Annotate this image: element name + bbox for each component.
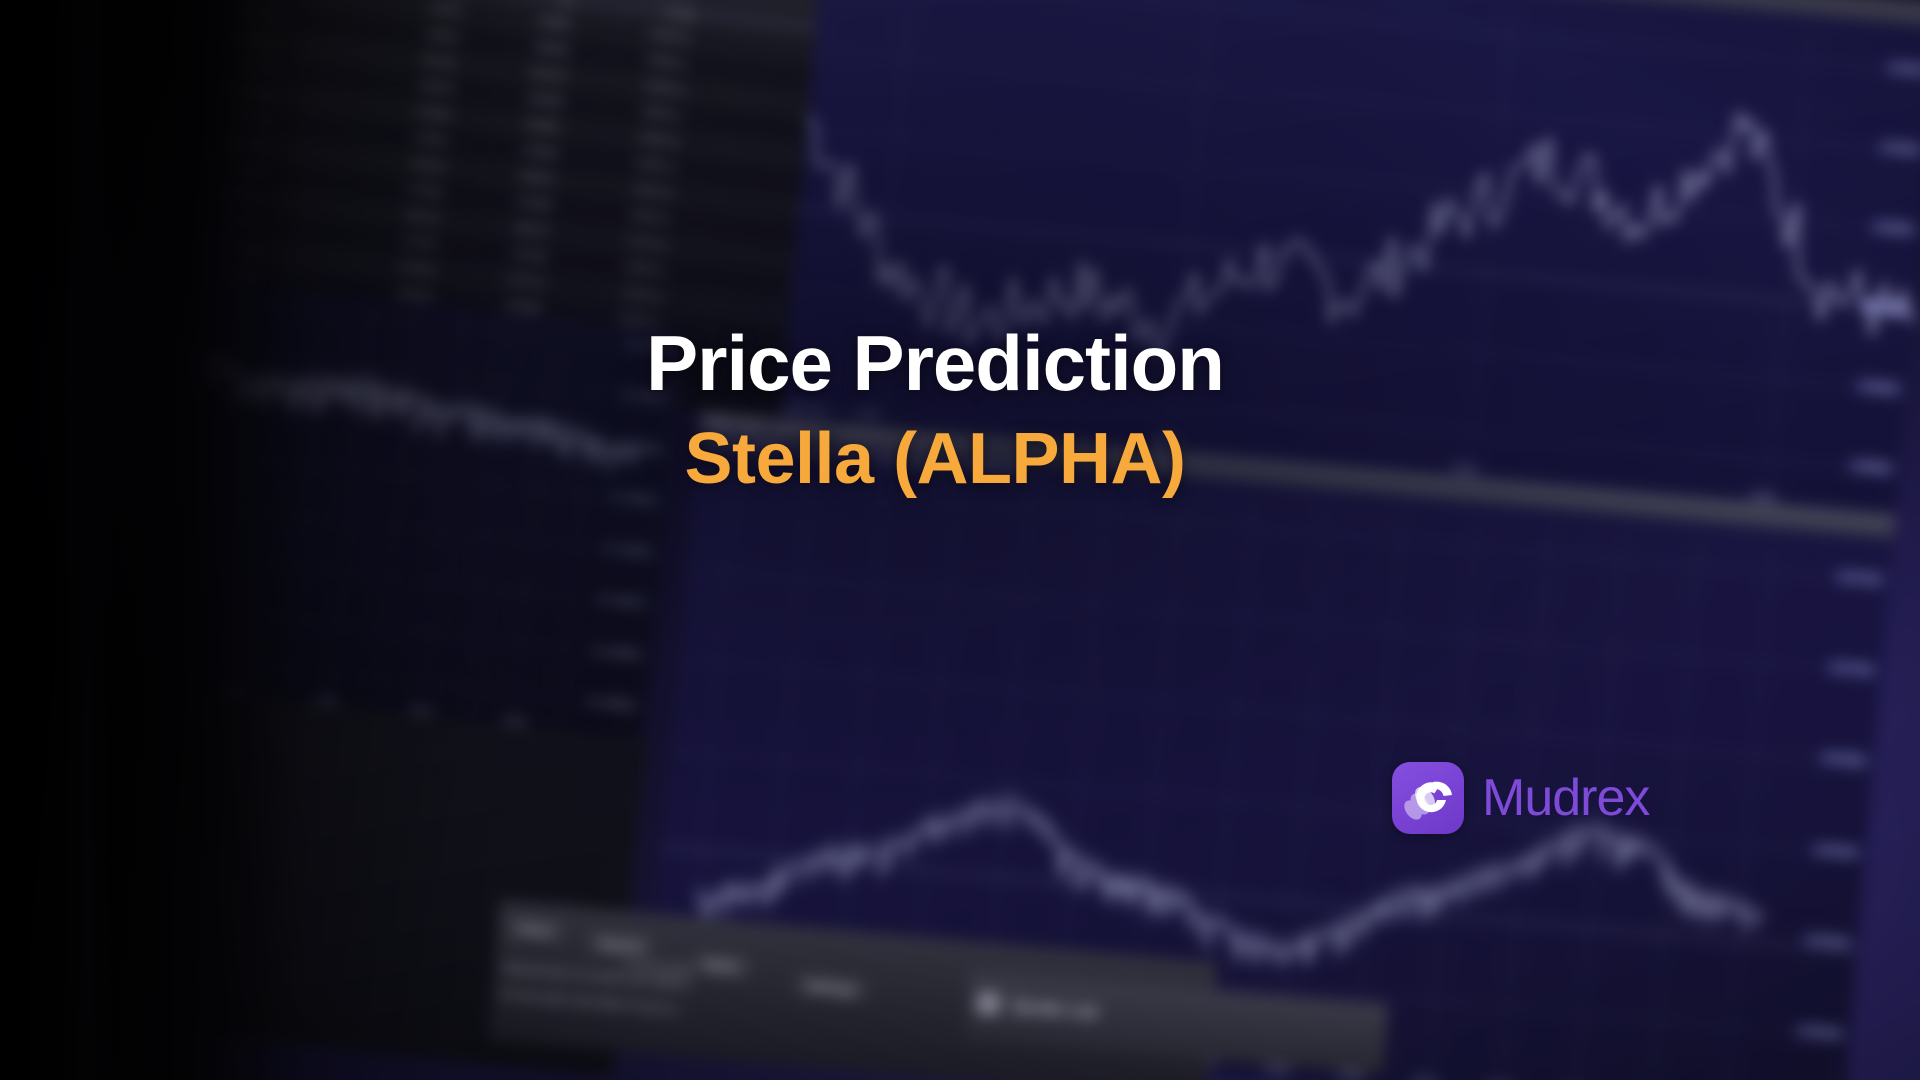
overlay-scrim xyxy=(0,0,1920,1080)
mudrex-wordmark: Mudrex xyxy=(1482,772,1649,824)
mudrex-swirl-icon xyxy=(1392,762,1464,834)
hero-banner: Quotes Ticks Orders History Favourites S… xyxy=(0,0,1920,1080)
mudrex-logo[interactable]: Mudrex xyxy=(1392,762,1649,834)
hero-overlay: Price Prediction Stella (ALPHA) Mudrex xyxy=(0,0,1920,1080)
page-title: Price Prediction xyxy=(0,318,1895,409)
page-subtitle: Stella (ALPHA) xyxy=(0,418,1895,500)
